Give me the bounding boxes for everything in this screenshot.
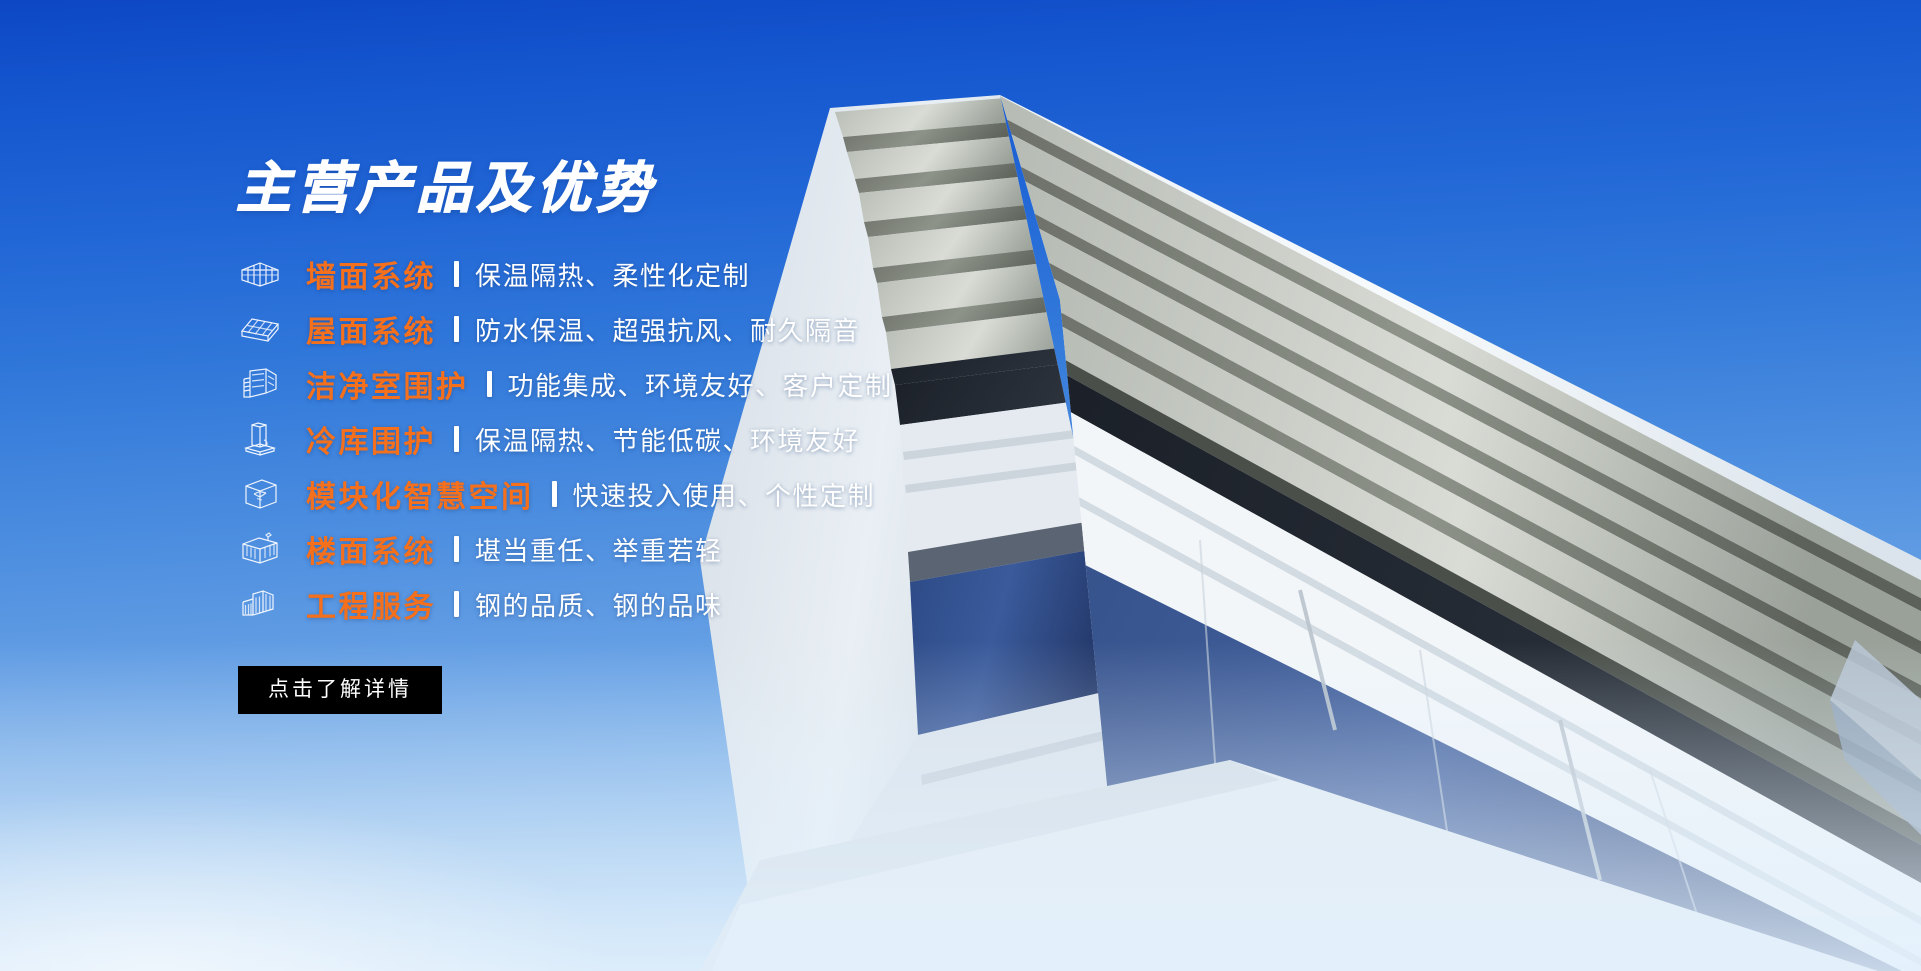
product-description: 功能集成、环境友好、客户定制	[508, 366, 893, 403]
list-item[interactable]: 墙面系统 保温隔热、柔性化定制	[236, 247, 1336, 302]
roof-system-icon	[236, 309, 284, 349]
separator-bar	[454, 591, 459, 617]
hero-content: 主营产品及优势 墙面系统 保温隔热、柔性化定制	[236, 158, 1336, 714]
list-item[interactable]: 模块化智慧空间 快速投入使用、个性定制	[236, 467, 1336, 522]
separator-bar	[454, 536, 459, 562]
cleanroom-icon	[236, 364, 284, 404]
product-description: 钢的品质、钢的品味	[475, 586, 723, 623]
product-description: 防水保温、超强抗风、耐久隔音	[475, 311, 860, 348]
list-item[interactable]: 屋面系统 防水保温、超强抗风、耐久隔音	[236, 302, 1336, 357]
floor-system-icon	[236, 529, 284, 569]
product-description: 堪当重任、举重若轻	[475, 531, 723, 568]
product-description: 快速投入使用、个性定制	[573, 476, 876, 513]
product-category: 楼面系统	[306, 527, 436, 571]
corner-glow	[0, 791, 620, 971]
product-list: 墙面系统 保温隔热、柔性化定制 屋面系统	[236, 247, 1336, 632]
product-description: 保温隔热、柔性化定制	[475, 256, 750, 293]
list-item[interactable]: 洁净室围护 功能集成、环境友好、客户定制	[236, 357, 1336, 412]
coldstorage-icon	[236, 419, 284, 459]
product-category: 墙面系统	[306, 252, 436, 296]
product-category: 屋面系统	[306, 307, 436, 351]
page-title: 主营产品及优势	[236, 158, 1336, 219]
separator-bar	[487, 371, 492, 397]
product-category: 冷库围护	[306, 417, 436, 461]
product-description: 保温隔热、节能低碳、环境友好	[475, 421, 860, 458]
learn-more-button[interactable]: 点击了解详情	[238, 666, 442, 714]
product-category: 洁净室围护	[306, 362, 469, 406]
hero-banner: 主营产品及优势 墙面系统 保温隔热、柔性化定制	[0, 0, 1921, 971]
separator-bar	[454, 316, 459, 342]
list-item[interactable]: 工程服务 钢的品质、钢的品味	[236, 577, 1336, 632]
engineering-service-icon	[236, 584, 284, 624]
wall-system-icon	[236, 254, 284, 294]
modular-space-icon	[236, 474, 284, 514]
product-category: 模块化智慧空间	[306, 472, 534, 516]
list-item[interactable]: 冷库围护 保温隔热、节能低碳、环境友好	[236, 412, 1336, 467]
separator-bar	[552, 481, 557, 507]
list-item[interactable]: 楼面系统 堪当重任、举重若轻	[236, 522, 1336, 577]
separator-bar	[454, 426, 459, 452]
separator-bar	[454, 261, 459, 287]
product-category: 工程服务	[306, 582, 436, 626]
